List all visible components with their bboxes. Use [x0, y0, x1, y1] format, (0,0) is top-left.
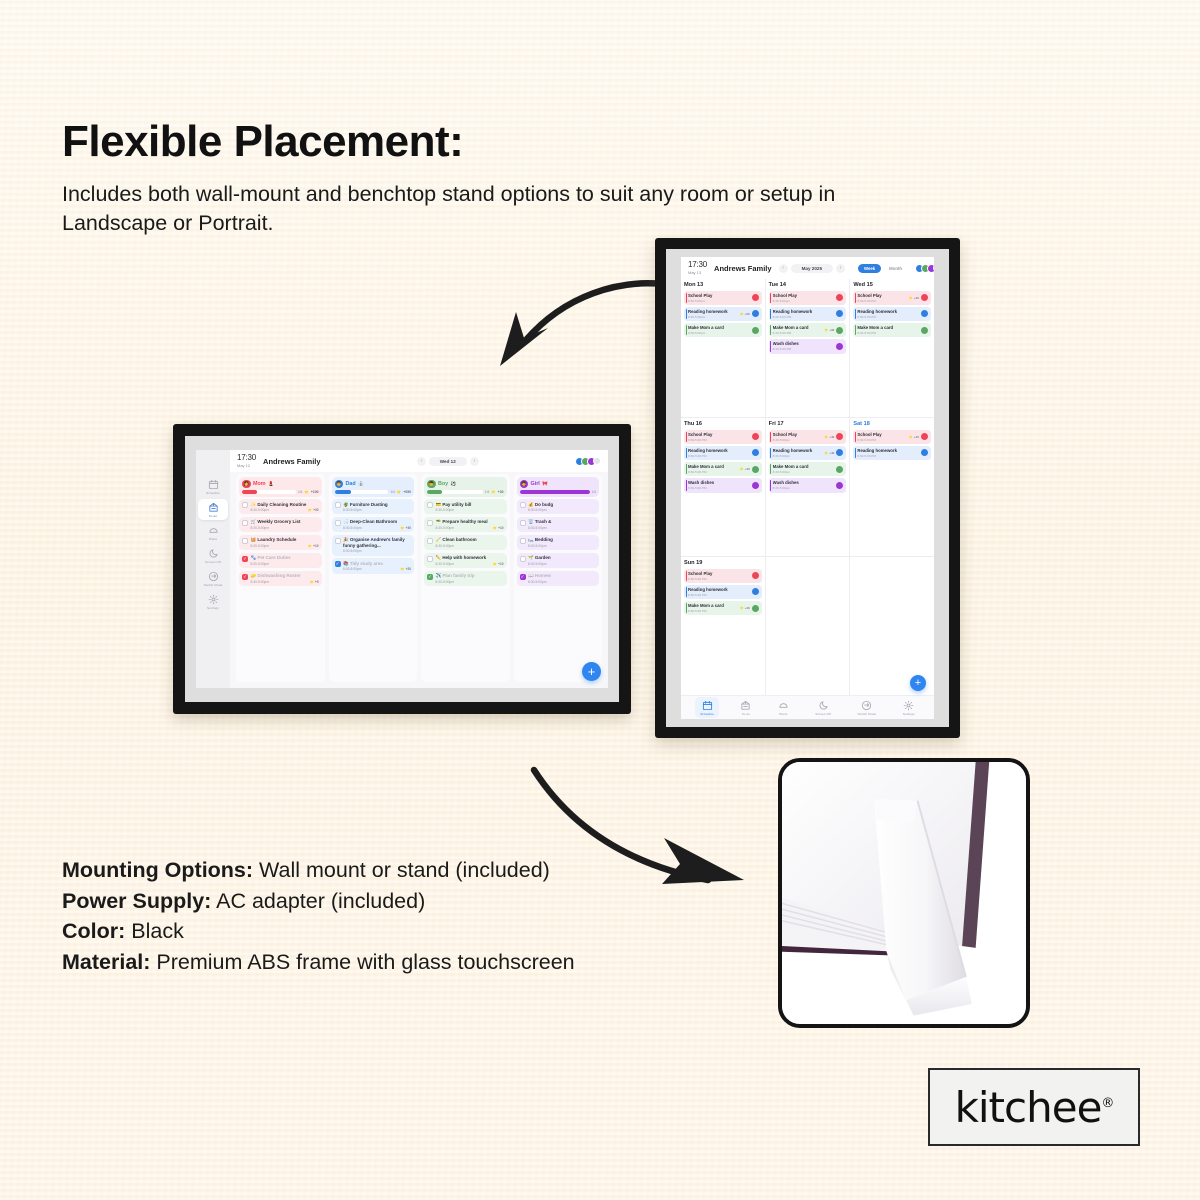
plans-icon — [208, 525, 219, 536]
task-time: 8:30-5:00pm — [528, 544, 547, 548]
event-time: 8:30-5:00 PM — [688, 593, 750, 597]
member-name: Boy — [438, 481, 448, 487]
task-checkbox[interactable] — [242, 520, 248, 526]
task-body: 📖 Homew8:30-5:00pm — [528, 573, 596, 583]
checklist-icon — [208, 502, 219, 513]
event-time: 8:30-5:00pm — [773, 299, 835, 303]
task-checkbox[interactable] — [427, 520, 433, 526]
task-body: 💳 Pay utility bill8:30-5:00pm — [436, 502, 504, 512]
sidebar-item-schedule[interactable]: Schedule — [198, 476, 228, 497]
task-card[interactable]: 🧹 Clean bathroom8:30-5:00pm — [424, 535, 507, 550]
bottom-nav-item-screen-off[interactable]: Screen Off — [810, 697, 836, 718]
event-title: School Play — [857, 293, 906, 298]
checklist-icon — [740, 700, 751, 711]
brand-name: kitchee® — [955, 1083, 1114, 1132]
task-card[interactable]: ✓✈️ Plan family trip8:30-5:00pm — [424, 571, 507, 586]
task-checkbox[interactable]: ✓ — [427, 574, 433, 580]
event-avatar — [836, 294, 843, 301]
event-text: Make Mom a card8:30-5:00 PM — [773, 325, 822, 335]
progress-bar-fill — [520, 490, 590, 494]
task-points: ⭐+10 — [308, 544, 319, 548]
task-title: 🧽 Dishwashing Roster — [251, 573, 319, 578]
week-row: Mon 13School Play8:30-5:00pmReading home… — [681, 279, 934, 417]
task-card[interactable]: 🌱 Garden8:30-5:00pm — [517, 553, 600, 568]
task-checkbox[interactable] — [427, 538, 433, 544]
event-text: Reading homework8:30-5:00 PM — [857, 448, 919, 458]
event-title: Make Mom a card — [857, 325, 919, 330]
task-card[interactable]: 🗑️ Trash &8:30-5:00pm — [517, 517, 600, 532]
task-points-value: +5 — [315, 580, 319, 584]
member-task-fraction: 1/4 — [485, 490, 489, 494]
prev-date-icon[interactable]: ‹ — [417, 457, 426, 466]
member-emoji-icon: 🎀 — [542, 481, 548, 487]
star-icon: ⭐ — [493, 562, 497, 566]
landscape-topbar: 17:30 May 12 Andrews Family ‹ Wed 12 › — [230, 450, 608, 472]
event-title: School Play — [773, 293, 835, 298]
task-card[interactable]: 🛁 Deep-Clean Bathroom8:30-5:00pm⭐+30 — [332, 517, 415, 532]
calendar-event[interactable]: Make Mom a card8:30-5:00pm — [684, 323, 762, 337]
day-cell[interactable]: Thu 16School Play8:30-5:00 PMReading hom… — [681, 418, 765, 556]
event-title: Wash dishes — [773, 341, 835, 346]
event-time: 8:30-5:00 PM — [857, 438, 906, 442]
calendar-event[interactable]: Reading homework8:30-5:00 PM — [684, 585, 762, 599]
clock-date: May 12 — [237, 464, 256, 468]
sidebar-item-settings[interactable]: Settings — [198, 591, 228, 612]
day-cell[interactable]: Fri 17School Play8:30-5:00pm⭐+40Reading … — [765, 418, 850, 556]
clock-time: 17:30 — [688, 261, 707, 269]
event-text: Reading homework8:30-5:00 PM — [773, 309, 835, 319]
portrait-topbar: 17:30 May 13 Andrews Family ‹ May 2025 ›… — [681, 257, 934, 279]
event-accent-bar — [770, 309, 771, 319]
day-cell[interactable]: Sat 18School Play8:30-5:00 PM⭐+40Reading… — [849, 418, 934, 556]
calendar-icon — [702, 700, 713, 711]
event-avatar — [921, 449, 928, 456]
event-text: Wash dishes8:30-5:00 PM — [773, 341, 835, 351]
family-title: Andrews Family — [263, 457, 321, 466]
event-title: Wash dishes — [773, 480, 835, 485]
progress-bar — [520, 490, 590, 494]
star-icon: ⭐ — [739, 606, 743, 610]
sidebar-item-label: Plans — [209, 537, 217, 541]
day-date-label: Mon 13 — [684, 282, 762, 288]
sidebar-item-label: Schedule — [206, 491, 220, 495]
day-cell[interactable]: Sun 19School Play8:30-5:00 PMReading hom… — [681, 557, 765, 695]
day-cell[interactable]: Mon 13School Play8:30-5:00pmReading home… — [681, 279, 765, 417]
sidebar-nav[interactable]: ScheduleTo-doPlansScreen OffSwitch ModeS… — [196, 450, 230, 688]
event-time: 8:30-5:00 PM — [688, 470, 737, 474]
task-checkbox[interactable]: ✓ — [242, 556, 248, 562]
event-accent-bar — [770, 341, 771, 351]
calendar-event[interactable]: Reading homework8:30-5:00 PM — [853, 307, 931, 321]
event-points: ⭐+50 — [739, 312, 749, 316]
stand-photo-card — [778, 758, 1030, 1028]
calendar-event[interactable]: Reading homework8:30-5:00 PM — [684, 446, 762, 460]
event-points-value: +30 — [829, 328, 834, 332]
task-title: 🧹 Clean bathroom — [436, 537, 504, 542]
task-checkbox[interactable] — [242, 502, 248, 508]
bottom-nav-item-schedule[interactable]: Schedule — [695, 697, 719, 718]
calendar-icon — [208, 479, 219, 490]
task-card[interactable]: 🥗 Prepare healthy meal8:30-5:00pm⭐+10 — [424, 517, 507, 532]
task-body: 🧺 Laundry Schedule8:30-5:00pm⭐+10 — [251, 537, 319, 547]
task-checkbox[interactable] — [242, 538, 248, 544]
task-body: 💰 Do budg8:30-5:00pm — [528, 502, 596, 512]
sidebar-item-label: Settings — [207, 606, 219, 610]
task-card[interactable]: 🧺 Laundry Schedule8:30-5:00pm⭐+10 — [239, 535, 322, 550]
task-meta: 8:30-5:00pm — [528, 562, 596, 566]
portrait-app: 17:30 May 13 Andrews Family ‹ May 2025 ›… — [681, 257, 934, 719]
task-card[interactable]: 🪴 Furniture Dusting8:30-5:00pm — [332, 499, 415, 514]
star-icon: ⭐ — [824, 451, 828, 455]
event-avatar — [836, 310, 843, 317]
landscape-app: ScheduleTo-doPlansScreen OffSwitch ModeS… — [196, 450, 608, 688]
task-checkbox[interactable] — [427, 556, 433, 562]
member-header-top: 👧Girl🎀 — [520, 480, 597, 489]
member-header-top: 👩Mom💄 — [242, 480, 319, 489]
member-name: Girl — [531, 481, 540, 487]
member-progress: 1/4⭐+050 — [335, 490, 412, 494]
task-title: 🛁 Deep-Clean Bathroom — [343, 519, 411, 524]
task-points: ⭐+5 — [310, 580, 319, 584]
spec-value: Black — [125, 919, 184, 943]
event-points-value: +40 — [829, 435, 834, 439]
event-time: 8:30-5:00pm — [688, 331, 750, 335]
event-accent-bar — [770, 464, 771, 474]
bottom-nav-item-switch-mode[interactable]: Switch Mode — [852, 697, 881, 718]
benchtop-stand-photo — [782, 762, 1026, 1023]
calendar-event[interactable]: School Play8:30-5:00 PM — [684, 430, 762, 444]
task-time: 8:30-5:00pm — [251, 508, 270, 512]
star-icon: ⭐ — [824, 435, 828, 439]
task-meta: 8:30-5:00pm — [343, 508, 411, 512]
calendar-event[interactable]: Reading homework8:30-5:00pm⭐+50 — [684, 307, 762, 321]
event-title: School Play — [688, 293, 750, 298]
member-emoji-icon: 👔 — [358, 481, 364, 487]
calendar-event[interactable]: Wash dishes8:30-5:00pm — [769, 478, 847, 492]
member-header[interactable]: 👩Mom💄1/4⭐+100 — [239, 477, 322, 497]
calendar-event[interactable]: Make Mom a card8:30-5:00 PM⭐+30 — [769, 323, 847, 337]
member-column: 👧Girl🎀1/4💰 Do budg8:30-5:00pm🗑️ Trash &8… — [514, 474, 603, 682]
member-avatar: 👦 — [427, 480, 436, 489]
task-checkbox[interactable]: ✓ — [520, 574, 526, 580]
day-date-label: Wed 15 — [853, 282, 931, 288]
clock-date: May 13 — [688, 271, 707, 275]
task-body: ✏️ Help with homework8:30-5:00pm⭐+10 — [436, 555, 504, 565]
task-body: 🛏️ Bedding8:30-5:00pm — [528, 537, 596, 547]
event-points: ⭐+40 — [824, 435, 834, 439]
event-accent-bar — [686, 309, 687, 319]
task-time: 8:30-5:00pm — [251, 544, 270, 548]
task-meta: 8:30-5:00pm⭐+10 — [436, 526, 504, 530]
task-time: 8:30-5:00pm — [251, 562, 270, 566]
spec-value: Premium ABS frame with glass touchscreen — [150, 950, 574, 974]
member-header[interactable]: 👦Boy⚽1/4⭐+30 — [424, 477, 507, 497]
task-checkbox[interactable] — [520, 556, 526, 562]
task-card[interactable]: ✓📖 Homew8:30-5:00pm — [517, 571, 600, 586]
task-points-value: +30 — [406, 526, 411, 530]
spec-label: Mounting Options: — [62, 858, 253, 882]
plans-icon — [778, 700, 789, 711]
spec-row: Mounting Options: Wall mount or stand (i… — [62, 856, 622, 886]
member-avatar-stack[interactable] — [915, 264, 934, 273]
event-time: 8:30-5:00pm — [773, 438, 822, 442]
sidebar-item-screen-off[interactable]: Screen Off — [198, 545, 228, 566]
calendar-event[interactable]: Wash dishes8:30-5:00 PM — [684, 478, 762, 492]
current-month-pill[interactable]: May 2025 — [791, 264, 833, 273]
calendar-event[interactable]: School Play8:30-5:00pm — [684, 291, 762, 305]
task-checkbox[interactable] — [335, 502, 341, 508]
calendar-event[interactable]: Reading homework8:30-5:00pm⭐+40 — [769, 446, 847, 460]
view-toggle[interactable]: WeekMonth — [858, 264, 908, 273]
prev-date-icon[interactable]: ‹ — [779, 264, 788, 273]
task-time: 8:30-5:00pm — [343, 508, 362, 512]
calendar-event[interactable]: School Play8:30-5:00 PM⭐+40 — [853, 430, 931, 444]
event-avatar — [752, 449, 759, 456]
event-text: Reading homework8:30-5:00 PM — [688, 587, 750, 597]
calendar-event[interactable]: Make Mom a card8:30-5:00 PM⭐+40 — [684, 462, 762, 476]
event-accent-bar — [855, 309, 856, 319]
task-checkbox[interactable] — [335, 520, 341, 526]
task-checkbox[interactable] — [520, 502, 526, 508]
view-toggle-month[interactable]: Month — [883, 264, 908, 273]
event-text: Wash dishes8:30-5:00pm — [773, 480, 835, 490]
event-title: School Play — [773, 432, 822, 437]
task-checkbox[interactable]: ✓ — [335, 561, 341, 567]
bottom-nav-item-to-do[interactable]: To-do — [735, 697, 756, 718]
event-time: 8:30-5:00pm — [773, 486, 835, 490]
task-checkbox[interactable] — [427, 502, 433, 508]
event-accent-bar — [686, 293, 687, 303]
calendar-event[interactable]: School Play8:30-5:00 PM⭐+40 — [853, 291, 931, 305]
task-card[interactable]: 🛏️ Bedding8:30-5:00pm — [517, 535, 600, 550]
next-date-icon[interactable]: › — [836, 264, 845, 273]
spec-value: AC adapter (included) — [211, 889, 425, 913]
task-checkbox[interactable] — [520, 538, 526, 544]
page-subtitle: Includes both wall-mount and benchtop st… — [62, 180, 942, 237]
event-points: ⭐+40 — [909, 296, 919, 300]
event-text: Wash dishes8:30-5:00 PM — [688, 480, 750, 490]
star-icon: ⭐ — [400, 567, 404, 571]
task-card[interactable]: 💰 Do budg8:30-5:00pm — [517, 499, 600, 514]
event-time: 8:30-5:00 PM — [857, 299, 906, 303]
event-accent-bar — [686, 448, 687, 458]
sidebar-item-label: To-do — [209, 514, 217, 518]
trademark-symbol: ® — [1101, 1096, 1113, 1111]
spec-row: Color: Black — [62, 917, 622, 947]
member-avatar: 👨 — [335, 480, 344, 489]
switch-icon — [208, 571, 219, 582]
event-avatar — [752, 310, 759, 317]
clock: 17:30 May 12 — [237, 454, 256, 468]
member-header-top: 👨Dad👔 — [335, 480, 412, 489]
member-avatar-stack[interactable] — [575, 457, 601, 466]
family-title: Andrews Family — [714, 264, 772, 273]
event-avatar — [921, 310, 928, 317]
event-text: School Play8:30-5:00 PM — [688, 571, 750, 581]
day-cell[interactable]: Tue 14School Play8:30-5:00pmReading home… — [765, 279, 850, 417]
member-name: Dad — [346, 481, 356, 487]
task-meta: 8:30-5:00pm — [528, 508, 596, 512]
star-icon: ⭐ — [304, 490, 308, 494]
task-time: 8:30-5:00pm — [343, 526, 362, 530]
member-header[interactable]: 👧Girl🎀1/4 — [517, 477, 600, 497]
star-icon: ⭐ — [397, 490, 401, 494]
event-title: Make Mom a card — [688, 603, 737, 608]
portrait-device-screen: 17:30 May 13 Andrews Family ‹ May 2025 ›… — [681, 257, 934, 719]
event-avatar — [752, 466, 759, 473]
task-card[interactable]: 💳 Pay utility bill8:30-5:00pm — [424, 499, 507, 514]
task-card[interactable]: 🎉 Organise Andrew's family funny gatheri… — [332, 535, 415, 556]
event-avatar — [752, 294, 759, 301]
event-title: Reading homework — [857, 448, 919, 453]
task-time: 8:30-5:00pm — [251, 580, 270, 584]
bottom-nav[interactable]: ScheduleTo-doPlansScreen OffSwitch ModeS… — [681, 695, 934, 719]
task-meta: 8:30-5:00pm — [436, 580, 504, 584]
event-text: School Play8:30-5:00 PM — [857, 293, 906, 303]
avatar-more-icon[interactable] — [593, 457, 601, 465]
page-title: Flexible Placement: — [62, 118, 962, 166]
task-card[interactable]: ✏️ Help with homework8:30-5:00pm⭐+10 — [424, 553, 507, 568]
task-meta: 8:30-5:00pm⭐+10 — [436, 562, 504, 566]
curved-arrow-to-landscape-device — [480, 278, 665, 373]
task-card[interactable]: ✓🧽 Dishwashing Roster8:30-5:00pm⭐+5 — [239, 571, 322, 586]
clock: 17:30 May 13 — [688, 261, 707, 275]
event-avatar — [752, 572, 759, 579]
task-body: 🥗 Prepare healthy meal8:30-5:00pm⭐+10 — [436, 519, 504, 529]
sidebar-item-plans[interactable]: Plans — [198, 522, 228, 543]
event-time: 8:30-5:00 PM — [773, 315, 835, 319]
task-meta: 8:30-5:00pm⭐+20 — [343, 567, 411, 571]
task-checkbox[interactable] — [335, 538, 341, 544]
event-time: 8:30-5:00 PM — [688, 609, 737, 613]
bottom-nav-item-settings[interactable]: Settings — [898, 697, 920, 718]
calendar-event[interactable]: Reading homework8:30-5:00 PM — [853, 446, 931, 460]
task-points-value: +30 — [313, 508, 318, 512]
view-toggle-week[interactable]: Week — [858, 264, 881, 273]
task-body: 🛒 Weekly Grocery List8:30-5:00pm — [251, 519, 319, 529]
task-card[interactable]: ✓📚 Tidy study area8:30-5:00pm⭐+20 — [332, 558, 415, 573]
task-card[interactable]: 🛒 Weekly Grocery List8:30-5:00pm — [239, 517, 322, 532]
event-title: Reading homework — [773, 448, 822, 453]
event-points-value: +40 — [914, 296, 919, 300]
task-title: 🌱 Garden — [528, 555, 596, 560]
bottom-nav-label: Switch Mode — [857, 712, 876, 716]
member-points: +100 — [311, 490, 319, 494]
event-avatar — [752, 605, 759, 612]
event-title: Make Mom a card — [773, 325, 822, 330]
sidebar-item-switch-mode[interactable]: Switch Mode — [198, 568, 228, 589]
member-progress: 1/4⭐+100 — [242, 490, 319, 494]
task-checkbox[interactable]: ✓ — [242, 574, 248, 580]
task-title: 📖 Homew — [528, 573, 596, 578]
event-time: 8:30-5:00pm — [773, 454, 822, 458]
event-time: 8:30-5:00 PM — [688, 486, 750, 490]
calendar-event[interactable]: School Play8:30-5:00 PM — [684, 569, 762, 583]
task-checkbox[interactable] — [520, 520, 526, 526]
spec-label: Color: — [62, 919, 125, 943]
moon-icon — [208, 548, 219, 559]
member-avatar: 👩 — [242, 480, 251, 489]
event-time: 8:30-5:00 PM — [773, 347, 835, 351]
event-avatar — [836, 343, 843, 350]
day-cell[interactable] — [765, 557, 850, 695]
avatar-more-icon[interactable] — [933, 264, 934, 272]
calendar-event[interactable]: Reading homework8:30-5:00 PM — [769, 307, 847, 321]
task-body: 🐾 Pet Care Duties8:30-5:00pm — [251, 555, 319, 565]
event-points-value: +40 — [914, 435, 919, 439]
calendar-event[interactable]: Make Mom a card8:30-5:00 PM — [853, 323, 931, 337]
calendar-event[interactable]: School Play8:30-5:00pm — [769, 291, 847, 305]
day-cell[interactable]: Wed 15School Play8:30-5:00 PM⭐+40Reading… — [849, 279, 934, 417]
event-title: Reading homework — [688, 587, 750, 592]
event-time: 8:30-5:00pm — [773, 470, 835, 474]
progress-bar-fill — [242, 490, 257, 494]
event-accent-bar — [770, 293, 771, 303]
event-avatar — [752, 433, 759, 440]
day-cell[interactable] — [849, 557, 934, 695]
day-date-label: Thu 16 — [684, 421, 762, 427]
calendar-event[interactable]: Wash dishes8:30-5:00 PM — [769, 339, 847, 353]
event-title: School Play — [688, 432, 750, 437]
star-icon: ⭐ — [308, 508, 312, 512]
task-meta: 8:30-5:00pm — [528, 580, 596, 584]
member-header[interactable]: 👨Dad👔1/4⭐+050 — [332, 477, 415, 497]
task-time: 8:30-5:00pm — [436, 526, 455, 530]
star-icon: ⭐ — [739, 467, 743, 471]
task-time: 8:30-5:00pm — [436, 580, 455, 584]
event-text: Reading homework8:30-5:00 PM — [857, 309, 919, 319]
event-text: School Play8:30-5:00pm — [688, 293, 750, 303]
event-accent-bar — [686, 325, 687, 335]
current-date-pill[interactable]: Wed 12 — [429, 457, 467, 466]
spec-value: Wall mount or stand (included) — [253, 858, 550, 882]
event-text: Make Mom a card8:30-5:00pm — [688, 325, 750, 335]
task-meta: 8:30-5:00pm⭐+5 — [251, 580, 319, 584]
calendar-event[interactable]: Make Mom a card8:30-5:00pm — [769, 462, 847, 476]
add-button[interactable]: + — [910, 675, 926, 691]
task-card[interactable]: ✨ Daily Cleaning Routine8:30-5:00pm⭐+30 — [239, 499, 322, 514]
next-date-icon[interactable]: › — [470, 457, 479, 466]
task-title: 🛏️ Bedding — [528, 537, 596, 542]
task-title: 🛒 Weekly Grocery List — [251, 519, 319, 524]
sidebar-item-label: Screen Off — [205, 560, 221, 564]
event-avatar — [836, 466, 843, 473]
calendar-event[interactable]: Make Mom a card8:30-5:00 PM⭐+40 — [684, 601, 762, 615]
member-column: 👩Mom💄1/4⭐+100✨ Daily Cleaning Routine8:3… — [236, 474, 325, 682]
event-time: 8:30-5:00 PM — [688, 438, 750, 442]
date-navigator[interactable]: ‹ May 2025 › — [779, 264, 845, 273]
add-button[interactable]: + — [582, 662, 601, 681]
task-meta: 8:30-5:00pm — [251, 562, 319, 566]
task-time: 8:30-5:00pm — [436, 508, 455, 512]
event-title: Reading homework — [857, 309, 919, 314]
task-card[interactable]: ✓🐾 Pet Care Duties8:30-5:00pm — [239, 553, 322, 568]
member-progress: 1/4⭐+30 — [427, 490, 504, 494]
task-meta: 8:30-5:00pm — [343, 549, 411, 553]
date-navigator[interactable]: ‹ Wed 12 › — [417, 457, 479, 466]
bottom-nav-item-plans[interactable]: Plans — [773, 697, 794, 718]
task-meta: 8:30-5:00pm — [436, 508, 504, 512]
task-time: 8:30-5:00pm — [528, 508, 547, 512]
sidebar-item-to-do[interactable]: To-do — [198, 499, 228, 520]
member-name: Mom — [253, 481, 266, 487]
event-accent-bar — [686, 432, 687, 442]
task-body: 🗑️ Trash &8:30-5:00pm — [528, 519, 596, 529]
event-avatar — [836, 433, 843, 440]
calendar-event[interactable]: School Play8:30-5:00pm⭐+40 — [769, 430, 847, 444]
switch-icon — [861, 700, 872, 711]
event-accent-bar — [855, 432, 856, 442]
